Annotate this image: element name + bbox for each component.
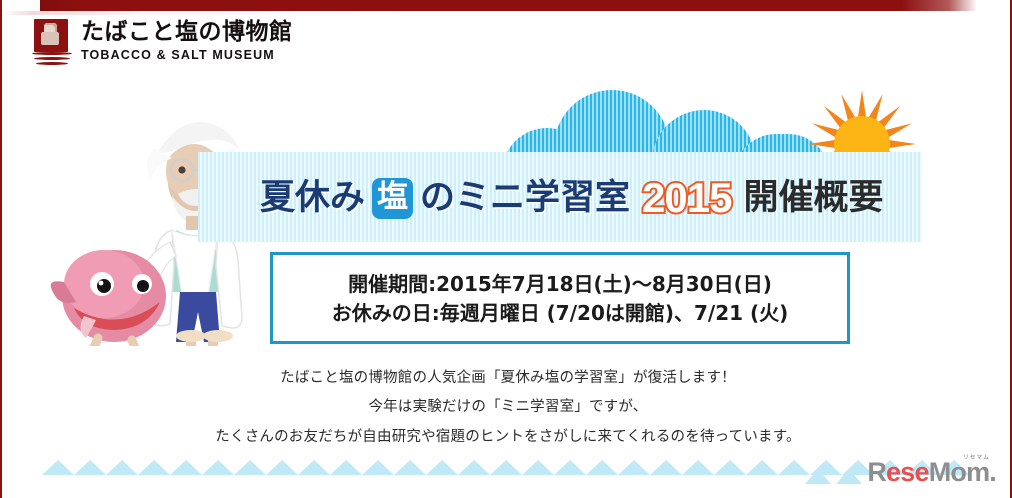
wave-triangle [458,460,490,475]
logo-title-en: TOBACCO & SALT MUSEUM [81,47,293,63]
resemom-watermark: リセマム ReseMom. [805,459,996,486]
wave-triangle [682,460,714,475]
wave-triangle [522,460,554,475]
wave-triangle [490,460,522,475]
wave-triangle [554,460,586,475]
title-part-3: 開催概要 [743,181,883,216]
watermark-triangle-icon-2 [836,469,862,484]
event-period-line: 開催期間:2015年7月18日(土)〜8月30日(日) [348,273,772,295]
wave-triangle [234,460,266,475]
title-part-1: 夏休み [260,181,365,216]
wave-triangle [298,460,330,475]
top-accent-bar-shadow [2,11,1012,15]
description-line-3: たくさんのお友だちが自由研究や宿題のヒントをさがしに来てくれるのを待っています。 [2,426,1012,448]
wave-triangle [650,460,682,475]
event-info-box: 開催期間:2015年7月18日(土)〜8月30日(日) お休みの日:毎週月曜日 … [270,252,850,344]
wave-triangle [138,460,170,475]
top-accent-bar [40,0,977,11]
description-line-2: 今年は実験だけの「ミニ学習室」ですが、 [2,396,1012,418]
page-title: 夏休み 塩 のミニ学習室 2015 開催概要 [260,170,880,226]
wave-triangle [170,460,202,475]
museum-emblem-icon [32,19,72,65]
watermark-subtext: リセマム [963,453,990,461]
site-logo[interactable]: たばこと塩の博物館 TOBACCO & SALT MUSEUM [32,19,293,65]
title-salt-chip: 塩 [372,178,413,219]
logo-title-jp: たばこと塩の博物館 [81,19,293,45]
wave-triangle [746,460,778,475]
wave-triangle [586,460,618,475]
wave-triangle [42,460,74,475]
description-text: たばこと塩の博物館の人気企画「夏休み塩の学習室」が復活します！ 今年は実験だけの… [2,367,1012,455]
wave-triangle [266,460,298,475]
title-year: 2015 [642,177,731,219]
title-part-2: のミニ学習室 [420,181,630,216]
watermark-text: ReseMom. [867,457,996,487]
description-line-1: たばこと塩の博物館の人気企画「夏休み塩の学習室」が復活します！ [2,367,1012,389]
wave-triangle [202,460,234,475]
wave-triangle [714,460,746,475]
wave-triangle [106,460,138,475]
wave-triangle [74,460,106,475]
wave-triangle [330,460,362,475]
wave-triangle [618,460,650,475]
closed-days-line: お休みの日:毎週月曜日 (7/20は開館)、7/21 (火) [332,302,789,324]
wave-triangle [394,460,426,475]
watermark-triangle-icon [805,469,831,484]
wave-triangle [362,460,394,475]
wave-triangle [426,460,458,475]
page-root: たばこと塩の博物館 TOBACCO & SALT MUSEUM [0,0,1012,498]
